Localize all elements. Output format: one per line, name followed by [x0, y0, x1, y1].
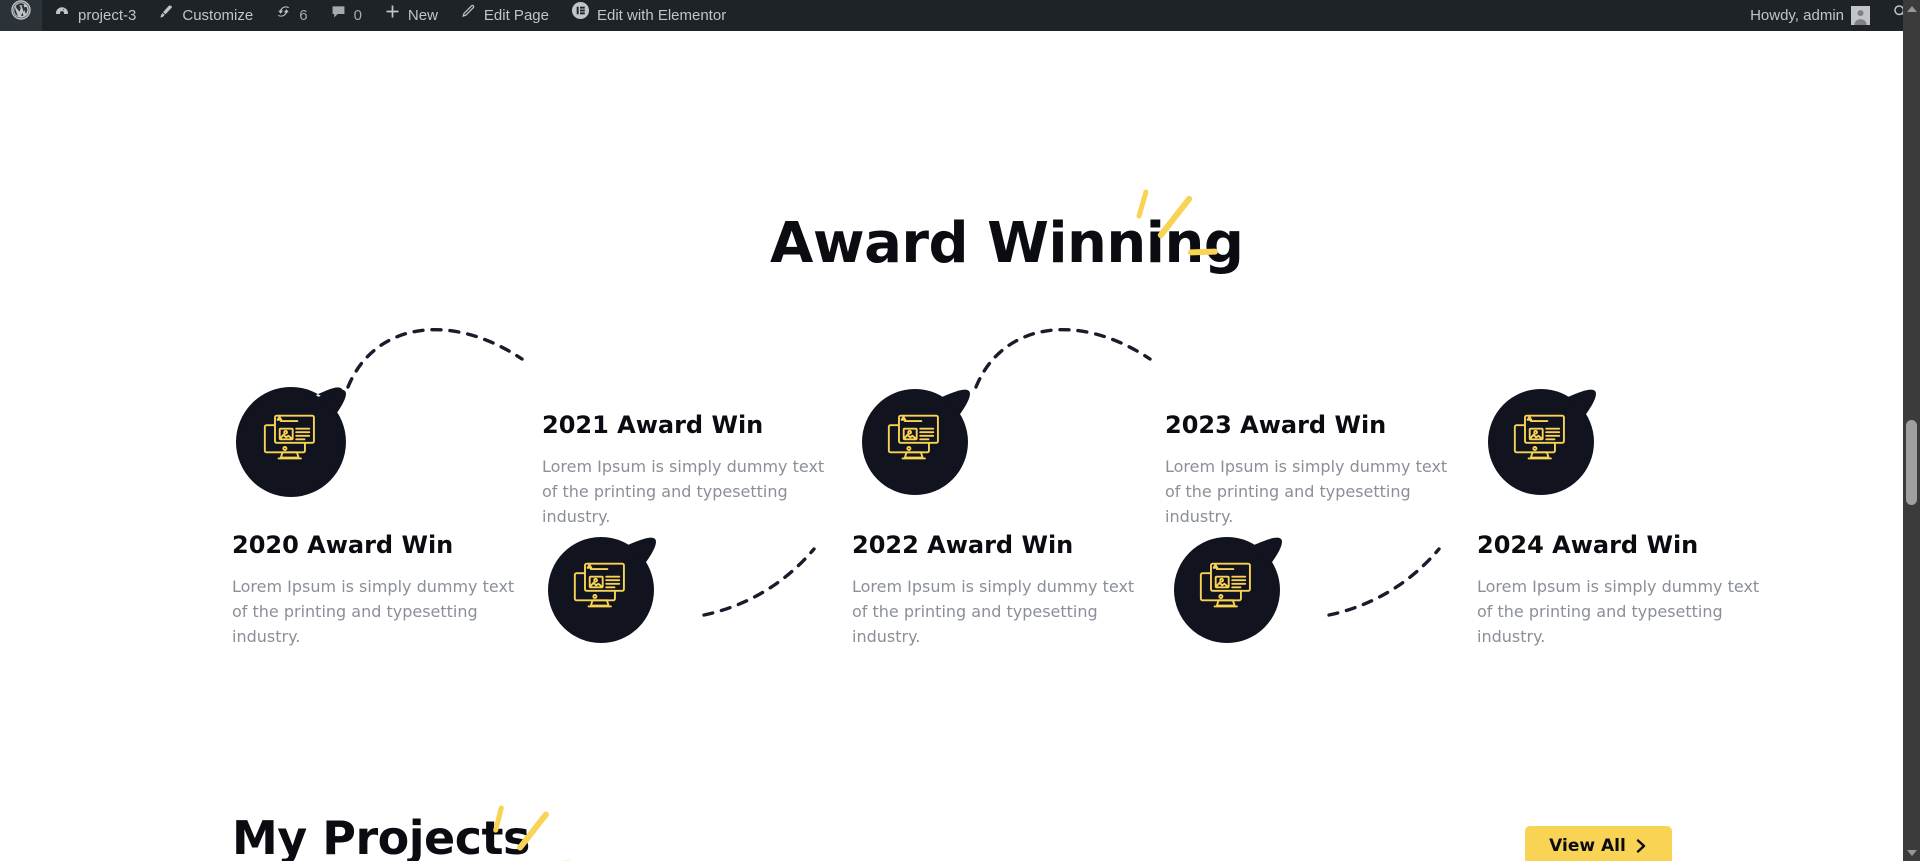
admin-bar-right-group: Howdy, admin [1739, 0, 1920, 31]
scrollbar-down-arrow-button[interactable] [1903, 844, 1920, 861]
connector-arc-1 [340, 301, 530, 391]
award-card-2020[interactable]: 2020 Award Win Lorem Ipsum is simply dum… [232, 531, 532, 649]
pencil-icon [460, 0, 477, 31]
award-icon-badge [1482, 383, 1600, 501]
updates-link[interactable]: 6 [264, 0, 318, 31]
avatar [1851, 6, 1870, 25]
award-card-2024[interactable]: 2024 Award Win Lorem Ipsum is simply dum… [1477, 531, 1777, 649]
award-card-title: 2024 Award Win [1477, 531, 1777, 559]
scrollbar-thumb[interactable] [1906, 420, 1917, 505]
view-all-button[interactable]: View All [1525, 826, 1672, 861]
spark-decor-dash [1188, 248, 1218, 255]
my-account-link[interactable]: Howdy, admin [1739, 0, 1881, 31]
site-name-menu[interactable]: project-3 [42, 0, 147, 31]
award-card-description: Lorem Ipsum is simply dummy text of the … [852, 575, 1152, 649]
award-card-title: 2020 Award Win [232, 531, 532, 559]
edit-page-link[interactable]: Edit Page [449, 0, 560, 31]
award-card-2021[interactable]: 2021 Award Win Lorem Ipsum is simply dum… [542, 411, 842, 529]
connector-arc-2 [968, 301, 1158, 391]
paintbrush-icon [158, 0, 175, 31]
award-card-title: 2022 Award Win [852, 531, 1152, 559]
edit-page-label: Edit Page [484, 0, 549, 31]
connector-arc-3 [700, 541, 820, 621]
new-content-label: New [408, 0, 438, 31]
award-card-description: Lorem Ipsum is simply dummy text of the … [542, 455, 842, 529]
award-icon-badge [1168, 531, 1286, 649]
comments-link[interactable]: 0 [319, 0, 373, 31]
award-card-description: Lorem Ipsum is simply dummy text of the … [1165, 455, 1465, 529]
elementor-icon [571, 0, 590, 31]
wp-admin-bar: project-3 Customize 6 0 New Edit Page [0, 0, 1920, 31]
wp-logo-menu[interactable] [0, 0, 42, 31]
wordpress-logo-icon [11, 0, 31, 31]
award-card-title: 2023 Award Win [1165, 411, 1465, 439]
award-icon-badge [232, 383, 350, 501]
chevron-up-icon [1907, 6, 1917, 12]
view-all-label: View All [1549, 836, 1626, 856]
customize-label: Customize [182, 0, 253, 31]
award-icon-badge [856, 383, 974, 501]
new-content-link[interactable]: New [373, 0, 449, 31]
projects-heading: My Projects [232, 811, 530, 861]
updates-count: 6 [299, 0, 307, 31]
award-card-2023[interactable]: 2023 Award Win Lorem Ipsum is simply dum… [1165, 411, 1465, 529]
browser-scrollbar[interactable] [1903, 0, 1920, 861]
connector-arc-4 [1325, 541, 1445, 621]
scrollbar-up-arrow-button[interactable] [1903, 0, 1920, 17]
award-card-description: Lorem Ipsum is simply dummy text of the … [232, 575, 532, 649]
updates-icon [275, 0, 292, 31]
plus-icon [384, 0, 401, 31]
edit-with-elementor-link[interactable]: Edit with Elementor [560, 0, 737, 31]
page-canvas: Award Winning [0, 31, 1903, 861]
award-card-description: Lorem Ipsum is simply dummy text of the … [1477, 575, 1777, 649]
dashboard-icon [53, 0, 71, 31]
comments-count: 0 [354, 0, 362, 31]
howdy-label: Howdy, admin [1750, 0, 1844, 31]
chevron-right-icon [1635, 839, 1648, 853]
award-card-2022[interactable]: 2022 Award Win Lorem Ipsum is simply dum… [852, 531, 1152, 649]
award-icon-badge [542, 531, 660, 649]
site-name-label: project-3 [78, 0, 136, 31]
comment-bubble-icon [330, 0, 347, 31]
chevron-down-icon [1907, 850, 1917, 856]
customize-link[interactable]: Customize [147, 0, 264, 31]
award-card-title: 2021 Award Win [542, 411, 842, 439]
edit-with-elementor-label: Edit with Elementor [597, 0, 726, 31]
